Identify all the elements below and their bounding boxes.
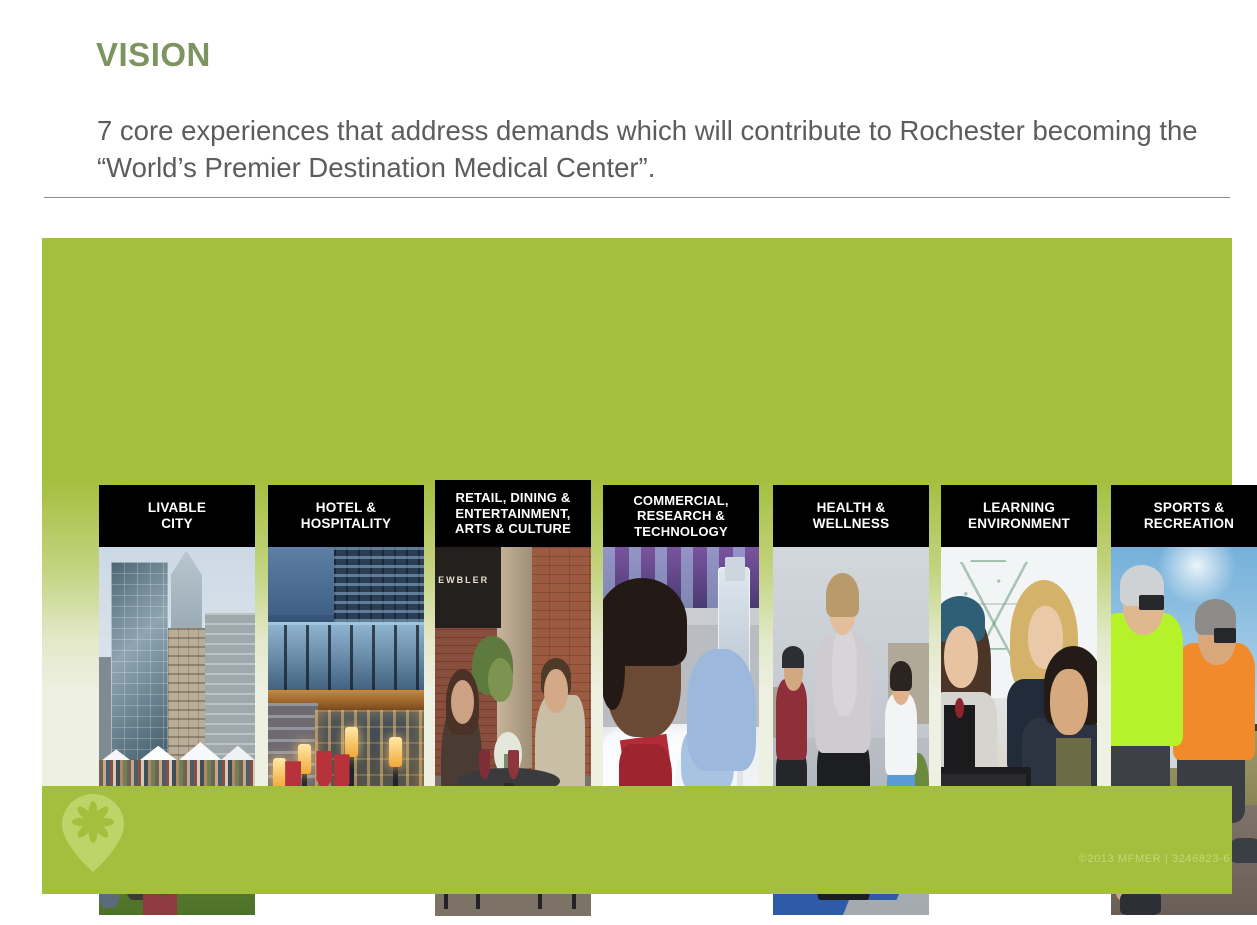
column-title-line: RECREATION: [1144, 516, 1234, 531]
column-header-retail-dining: RETAIL, DINING & ENTERTAINMENT, ARTS & C…: [435, 480, 591, 547]
page-subtitle: 7 core experiences that address demands …: [97, 112, 1217, 186]
column-header-commercial-research: COMMERCIAL, RESEARCH & TECHNOLOGY: [603, 485, 759, 547]
column-title-line: ENVIRONMENT: [968, 516, 1070, 531]
column-header-hotel-hospitality: HOTEL & HOSPITALITY: [268, 485, 424, 547]
column-title-line: WELLNESS: [813, 516, 890, 531]
storefront-sign: EWBLER: [438, 554, 485, 606]
footer-band: [42, 786, 1232, 894]
column-title-line: HOSPITALITY: [301, 516, 391, 531]
column-header-sports-recreation: SPORTS & RECREATION: [1111, 485, 1257, 547]
column-title-line: SPORTS &: [1154, 500, 1225, 515]
column-title-line: COMMERCIAL,: [633, 493, 728, 508]
column-title-line: TECHNOLOGY: [634, 524, 728, 539]
column-title-line: RESEARCH &: [637, 508, 725, 523]
column-title-line: LIVABLE: [148, 500, 206, 515]
experience-panel: LIVABLE CITY HOTEL & HOSPIT: [42, 238, 1232, 786]
column-header-learning-environment: LEARNING ENVIRONMENT: [941, 485, 1097, 547]
column-header-health-wellness: HEALTH & WELLNESS: [773, 485, 929, 547]
title-divider: [44, 197, 1230, 198]
page-title: VISION: [96, 36, 211, 74]
column-title-line: ENTERTAINMENT,: [455, 506, 570, 521]
column-title-line: HOTEL &: [316, 500, 376, 515]
column-title-line: CITY: [161, 516, 193, 531]
column-title-line: ARTS & CULTURE: [455, 521, 571, 536]
column-title-line: LEARNING: [983, 500, 1055, 515]
column-title-line: RETAIL, DINING &: [456, 490, 571, 505]
copyright-credit: ©2013 MFMER | 3246823-6: [1079, 853, 1230, 865]
column-header-livable-city: LIVABLE CITY: [99, 485, 255, 547]
column-title-line: HEALTH &: [817, 500, 886, 515]
map-pin-starburst-logo: [62, 794, 124, 872]
